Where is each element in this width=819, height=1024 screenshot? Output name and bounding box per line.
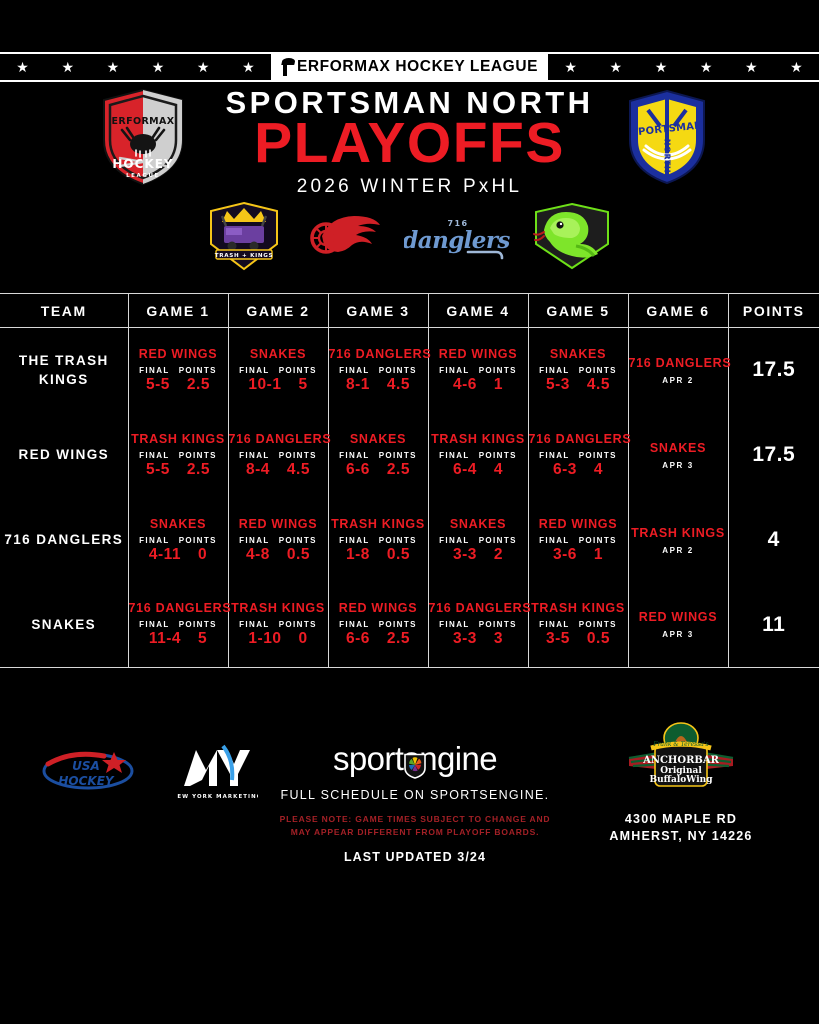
- column-header-game-5: GAME 5: [528, 294, 628, 328]
- performax-p-icon: [281, 59, 296, 76]
- anchor-address-line-2: AMHERST, NY 14226: [586, 828, 776, 845]
- standings-board: TEAM GAME 1 GAME 2 GAME 3 GAME 4 GAME 5 …: [0, 293, 819, 668]
- footer: USA HOCKEY NEW YORK MARKETING sportsngin…: [0, 700, 819, 880]
- cell-team-name: 716 DANGLERS: [0, 498, 128, 583]
- final-label: FINAL: [139, 620, 170, 629]
- opponent-label: 716 DANGLERS: [629, 356, 728, 371]
- column-header-game-4: GAME 4: [428, 294, 528, 328]
- star-icon: ★: [152, 60, 165, 74]
- opponent-label: TRASH KINGS: [129, 432, 228, 447]
- final-score-value: 1-10: [248, 630, 281, 648]
- final-score-value: 4-6: [453, 376, 477, 394]
- points-label: POINTS: [579, 366, 617, 375]
- final-points-values: 4-110: [129, 546, 228, 564]
- cell-team-name: THE TRASH KINGS: [0, 328, 128, 413]
- final-label: FINAL: [539, 366, 570, 375]
- opponent-label: SNAKES: [329, 432, 428, 447]
- opponent-label: RED WINGS: [129, 347, 228, 362]
- final-score-value: 5-5: [146, 461, 170, 479]
- game-date-label: APR 2: [629, 546, 728, 555]
- final-points-values: 6-44: [429, 461, 528, 479]
- points-value: 2.5: [387, 461, 410, 479]
- game-date-label: APR 3: [629, 461, 728, 470]
- cell-game-5: RED WINGSFINALPOINTS3-61: [528, 498, 628, 583]
- points-label: POINTS: [179, 536, 217, 545]
- svg-text:danglers: danglers: [404, 227, 510, 254]
- points-label: POINTS: [479, 366, 517, 375]
- final-points-values: 3-50.5: [529, 630, 628, 648]
- star-icon: ★: [107, 60, 120, 74]
- cell-game-1: RED WINGSFINALPOINTS5-52.5: [128, 328, 228, 413]
- svg-text:NORTH: NORTH: [663, 139, 672, 173]
- league-name-text: ERFORMAX HOCKEY LEAGUE: [297, 58, 538, 76]
- final-points-values: 6-34: [529, 461, 628, 479]
- final-points-values: 10-15: [229, 376, 328, 394]
- nbc-sports-shield-icon: [403, 753, 426, 779]
- opponent-label: SNAKES: [529, 347, 628, 362]
- cell-game-3: 716 DANGLERSFINALPOINTS8-14.5: [328, 328, 428, 413]
- game-date-label: APR 3: [629, 630, 728, 639]
- total-points-value: 11: [729, 613, 819, 637]
- final-points-labels: FINALPOINTS: [329, 366, 428, 375]
- cell-team-name: SNAKES: [0, 583, 128, 668]
- final-label: FINAL: [239, 620, 270, 629]
- final-label: FINAL: [339, 451, 370, 460]
- final-points-labels: FINALPOINTS: [529, 451, 628, 460]
- cell-total-points: 17.5: [728, 328, 819, 413]
- cell-game-5: 716 DANGLERSFINALPOINTS6-34: [528, 413, 628, 498]
- opponent-label: TRASH KINGS: [629, 526, 728, 541]
- schedule-change-note: PLEASE NOTE: GAME TIMES SUBJECT TO CHANG…: [278, 813, 552, 839]
- final-points-values: 4-80.5: [229, 546, 328, 564]
- points-label: POINTS: [179, 451, 217, 460]
- points-label: POINTS: [279, 536, 317, 545]
- final-label: FINAL: [139, 536, 170, 545]
- last-updated-text: LAST UPDATED 3/24: [278, 850, 552, 864]
- final-points-labels: FINALPOINTS: [529, 536, 628, 545]
- final-points-values: 8-14.5: [329, 376, 428, 394]
- cell-game-6: TRASH KINGSAPR 2: [628, 498, 728, 583]
- sportsman-north-shield-icon: SPORTSMAN NORTH: [624, 88, 710, 186]
- final-points-values: 3-33: [429, 630, 528, 648]
- cell-game-2: 716 DANGLERSFINALPOINTS8-44.5: [228, 413, 328, 498]
- final-points-labels: FINALPOINTS: [229, 366, 328, 375]
- cell-game-5: TRASH KINGSFINALPOINTS3-50.5: [528, 583, 628, 668]
- final-points-labels: FINALPOINTS: [229, 451, 328, 460]
- note-line-2: MAY APPEAR DIFFERENT FROM PLAYOFF BOARDS…: [278, 826, 552, 839]
- final-points-labels: FINALPOINTS: [329, 451, 428, 460]
- star-icon: ★: [700, 60, 713, 74]
- sportsengine-wordmark: sportsngine: [333, 742, 497, 775]
- final-score-value: 5-5: [146, 376, 170, 394]
- cell-total-points: 11: [728, 583, 819, 668]
- cell-game-2: RED WINGSFINALPOINTS4-80.5: [228, 498, 328, 583]
- anchor-address-line-1: 4300 MAPLE RD: [586, 811, 776, 828]
- final-score-value: 1-8: [346, 546, 370, 564]
- final-score-value: 3-3: [453, 630, 477, 648]
- final-score-value: 5-3: [546, 376, 570, 394]
- total-points-value: 4: [729, 528, 819, 552]
- opponent-label: SNAKES: [629, 441, 728, 456]
- table-row: THE TRASH KINGSRED WINGSFINALPOINTS5-52.…: [0, 328, 819, 413]
- points-label: POINTS: [379, 536, 417, 545]
- final-points-values: 5-52.5: [129, 376, 228, 394]
- points-value: 4.5: [387, 376, 410, 394]
- cell-game-2: TRASH KINGSFINALPOINTS1-100: [228, 583, 328, 668]
- points-label: POINTS: [579, 620, 617, 629]
- final-points-values: 6-62.5: [329, 461, 428, 479]
- final-score-value: 3-6: [553, 546, 577, 564]
- table-row: 716 DANGLERSSNAKESFINALPOINTS4-110RED WI…: [0, 498, 819, 583]
- final-points-values: 5-52.5: [129, 461, 228, 479]
- final-points-values: 6-62.5: [329, 630, 428, 648]
- points-value: 0: [298, 630, 307, 648]
- final-label: FINAL: [439, 536, 470, 545]
- column-header-game-1: GAME 1: [128, 294, 228, 328]
- final-label: FINAL: [339, 620, 370, 629]
- points-value: 2.5: [187, 376, 210, 394]
- final-points-labels: FINALPOINTS: [429, 620, 528, 629]
- points-value: 4: [494, 461, 503, 479]
- points-value: 1: [594, 546, 603, 564]
- final-score-value: 8-1: [346, 376, 370, 394]
- opponent-label: TRASH KINGS: [429, 432, 528, 447]
- final-label: FINAL: [439, 451, 470, 460]
- opponent-label: RED WINGS: [629, 610, 728, 625]
- cell-game-3: SNAKESFINALPOINTS6-62.5: [328, 413, 428, 498]
- points-label: POINTS: [279, 451, 317, 460]
- cell-total-points: 4: [728, 498, 819, 583]
- league-name-plate: ERFORMAX HOCKEY LEAGUE: [271, 52, 548, 82]
- final-score-value: 6-6: [346, 630, 370, 648]
- final-points-labels: FINALPOINTS: [129, 451, 228, 460]
- table-header-row: TEAM GAME 1 GAME 2 GAME 3 GAME 4 GAME 5 …: [0, 294, 819, 328]
- final-score-value: 3-3: [453, 546, 477, 564]
- points-label: POINTS: [279, 366, 317, 375]
- final-points-labels: FINALPOINTS: [229, 620, 328, 629]
- opponent-label: 716 DANGLERS: [229, 432, 328, 447]
- final-score-value: 6-3: [553, 461, 577, 479]
- points-value: 0: [198, 546, 207, 564]
- opponent-label: TRASH KINGS: [329, 517, 428, 532]
- svg-text:HOCKEY: HOCKEY: [58, 774, 115, 788]
- final-points-values: 4-61: [429, 376, 528, 394]
- opponent-label: SNAKES: [129, 517, 228, 532]
- cell-game-1: TRASH KINGSFINALPOINTS5-52.5: [128, 413, 228, 498]
- table-row: SNAKES716 DANGLERSFINALPOINTS11-45TRASH …: [0, 583, 819, 668]
- star-icon: ★: [242, 60, 255, 74]
- opponent-label: RED WINGS: [329, 601, 428, 616]
- red-wings-logo-icon: [300, 205, 386, 272]
- final-score-value: 4-11: [149, 546, 181, 564]
- final-label: FINAL: [439, 620, 470, 629]
- points-label: POINTS: [379, 451, 417, 460]
- final-points-labels: FINALPOINTS: [529, 620, 628, 629]
- team-logo-strip: TRASH + KINGS 716 danglers: [0, 202, 819, 274]
- points-label: POINTS: [479, 620, 517, 629]
- points-value: 2.5: [387, 630, 410, 648]
- points-label: POINTS: [479, 451, 517, 460]
- points-value: 0.5: [387, 546, 410, 564]
- final-points-labels: FINALPOINTS: [129, 536, 228, 545]
- final-label: FINAL: [539, 620, 570, 629]
- final-points-values: 1-80.5: [329, 546, 428, 564]
- opponent-label: TRASH KINGS: [229, 601, 328, 616]
- column-header-game-6: GAME 6: [628, 294, 728, 328]
- star-icon: ★: [61, 60, 74, 74]
- points-value: 2.5: [187, 461, 210, 479]
- final-label: FINAL: [339, 366, 370, 375]
- final-points-labels: FINALPOINTS: [329, 536, 428, 545]
- final-points-values: 11-45: [129, 630, 228, 648]
- points-label: POINTS: [279, 620, 317, 629]
- opponent-label: 716 DANGLERS: [429, 601, 528, 616]
- note-line-1: PLEASE NOTE: GAME TIMES SUBJECT TO CHANG…: [278, 813, 552, 826]
- svg-text:TRASH + KINGS: TRASH + KINGS: [214, 253, 273, 259]
- cell-game-4: TRASH KINGSFINALPOINTS6-44: [428, 413, 528, 498]
- total-points-value: 17.5: [729, 358, 819, 382]
- column-header-points: POINTS: [728, 294, 819, 328]
- column-header-team: TEAM: [0, 294, 128, 328]
- final-points-values: 3-32: [429, 546, 528, 564]
- cell-game-6: SNAKESAPR 3: [628, 413, 728, 498]
- final-label: FINAL: [139, 366, 170, 375]
- cell-game-5: SNAKESFINALPOINTS5-34.5: [528, 328, 628, 413]
- points-label: POINTS: [379, 620, 417, 629]
- final-points-labels: FINALPOINTS: [529, 366, 628, 375]
- sportsengine-wordmark-part-b: ngine: [419, 740, 497, 777]
- standings-table: TEAM GAME 1 GAME 2 GAME 3 GAME 4 GAME 5 …: [0, 293, 819, 668]
- svg-text:Frank & Teressa's: Frank & Teressa's: [652, 741, 708, 748]
- column-header-game-2: GAME 2: [228, 294, 328, 328]
- final-score-value: 3-5: [546, 630, 570, 648]
- final-points-labels: FINALPOINTS: [429, 366, 528, 375]
- svg-text:BuffaloWing: BuffaloWing: [650, 775, 714, 785]
- points-value: 5: [198, 630, 207, 648]
- points-label: POINTS: [479, 536, 517, 545]
- cell-game-4: SNAKESFINALPOINTS3-32: [428, 498, 528, 583]
- final-points-labels: FINALPOINTS: [129, 620, 228, 629]
- opponent-label: SNAKES: [429, 517, 528, 532]
- cell-game-3: RED WINGSFINALPOINTS6-62.5: [328, 583, 428, 668]
- final-points-values: 3-61: [529, 546, 628, 564]
- star-icon: ★: [564, 60, 577, 74]
- new-york-marketing-logo-icon: NEW YORK MARKETING: [176, 740, 258, 802]
- final-label: FINAL: [439, 366, 470, 375]
- star-icon: ★: [790, 60, 803, 74]
- opponent-label: RED WINGS: [229, 517, 328, 532]
- team-name-label: THE TRASH KINGS: [0, 351, 128, 390]
- cell-game-4: RED WINGSFINALPOINTS4-61: [428, 328, 528, 413]
- final-label: FINAL: [539, 536, 570, 545]
- final-score-value: 4-8: [246, 546, 270, 564]
- points-value: 2: [494, 546, 503, 564]
- star-icon: ★: [197, 60, 210, 74]
- team-name-label: 716 DANGLERS: [0, 530, 128, 550]
- points-value: 1: [494, 376, 503, 394]
- final-score-value: 11-4: [149, 630, 181, 648]
- team-name-label: SNAKES: [0, 615, 128, 635]
- snakes-logo-icon: [530, 200, 614, 277]
- cell-game-3: TRASH KINGSFINALPOINTS1-80.5: [328, 498, 428, 583]
- final-points-labels: FINALPOINTS: [429, 451, 528, 460]
- points-value: 4.5: [287, 461, 310, 479]
- points-label: POINTS: [579, 536, 617, 545]
- final-points-labels: FINALPOINTS: [429, 536, 528, 545]
- points-label: POINTS: [579, 451, 617, 460]
- points-label: POINTS: [179, 620, 217, 629]
- points-label: POINTS: [179, 366, 217, 375]
- cell-game-1: 716 DANGLERSFINALPOINTS11-45: [128, 583, 228, 668]
- points-value: 3: [494, 630, 503, 648]
- star-banner: ★★★★★★ ERFORMAX HOCKEY LEAGUE ★★★★★★: [0, 52, 819, 82]
- playoff-standings-graphic: ★★★★★★ ERFORMAX HOCKEY LEAGUE ★★★★★★ ERF…: [0, 0, 819, 1024]
- points-value: 5: [298, 376, 307, 394]
- cell-game-6: 716 DANGLERSAPR 2: [628, 328, 728, 413]
- sportsengine-schedule-line: FULL SCHEDULE ON SPORTSENGINE.: [278, 788, 552, 802]
- opponent-label: RED WINGS: [529, 517, 628, 532]
- points-label: POINTS: [379, 366, 417, 375]
- final-points-labels: FINALPOINTS: [329, 620, 428, 629]
- cell-team-name: RED WINGS: [0, 413, 128, 498]
- final-label: FINAL: [539, 451, 570, 460]
- points-value: 0.5: [587, 630, 610, 648]
- star-icon: ★: [610, 60, 623, 74]
- opponent-label: RED WINGS: [429, 347, 528, 362]
- final-points-labels: FINALPOINTS: [129, 366, 228, 375]
- column-header-game-3: GAME 3: [328, 294, 428, 328]
- opponent-label: SNAKES: [229, 347, 328, 362]
- cell-game-2: SNAKESFINALPOINTS10-15: [228, 328, 328, 413]
- opponent-label: 716 DANGLERS: [529, 432, 628, 447]
- opponent-label: 716 DANGLERS: [129, 601, 228, 616]
- usa-hockey-logo-icon: USA HOCKEY: [42, 748, 134, 794]
- cell-total-points: 17.5: [728, 413, 819, 498]
- table-row: RED WINGSTRASH KINGSFINALPOINTS5-52.5716…: [0, 413, 819, 498]
- final-score-value: 10-1: [248, 376, 281, 394]
- anchor-bar-logo-icon: Frank & Teressa's ANCHORBAR Original Buf…: [621, 722, 741, 800]
- sportsengine-block: sportsngine FULL SCHEDULE ON SPORTSENGIN…: [278, 742, 552, 864]
- final-label: FINAL: [239, 366, 270, 375]
- final-score-value: 6-6: [346, 461, 370, 479]
- final-label: FINAL: [139, 451, 170, 460]
- anchor-bar-address: 4300 MAPLE RD AMHERST, NY 14226: [586, 811, 776, 845]
- cell-game-6: RED WINGSAPR 3: [628, 583, 728, 668]
- star-icon: ★: [16, 60, 29, 74]
- nym-label: NEW YORK MARKETING: [176, 794, 258, 800]
- points-value: 0.5: [287, 546, 310, 564]
- team-name-label: RED WINGS: [0, 445, 128, 465]
- final-label: FINAL: [339, 536, 370, 545]
- trash-kings-logo-icon: TRASH + KINGS: [206, 200, 282, 277]
- final-label: FINAL: [239, 451, 270, 460]
- points-value: 4.5: [587, 376, 610, 394]
- final-score-value: 8-4: [246, 461, 270, 479]
- points-value: 4: [594, 461, 603, 479]
- final-points-values: 8-44.5: [229, 461, 328, 479]
- cell-game-1: SNAKESFINALPOINTS4-110: [128, 498, 228, 583]
- star-strip-left: ★★★★★★: [0, 52, 271, 82]
- final-score-value: 6-4: [453, 461, 477, 479]
- opponent-label: 716 DANGLERS: [329, 347, 428, 362]
- final-points-values: 5-34.5: [529, 376, 628, 394]
- star-icon: ★: [745, 60, 758, 74]
- final-label: FINAL: [239, 536, 270, 545]
- final-points-labels: FINALPOINTS: [229, 536, 328, 545]
- star-strip-right: ★★★★★★: [548, 52, 819, 82]
- star-icon: ★: [655, 60, 668, 74]
- final-points-values: 1-100: [229, 630, 328, 648]
- cell-game-4: 716 DANGLERSFINALPOINTS3-33: [428, 583, 528, 668]
- 716-danglers-logo-icon: 716 danglers: [404, 208, 512, 269]
- anchor-bar-block: Frank & Teressa's ANCHORBAR Original Buf…: [586, 722, 776, 845]
- svg-text:USA: USA: [72, 759, 100, 773]
- game-date-label: APR 2: [629, 376, 728, 385]
- opponent-label: TRASH KINGS: [529, 601, 628, 616]
- svg-text:ANCHORBAR: ANCHORBAR: [642, 755, 720, 766]
- total-points-value: 17.5: [729, 443, 819, 467]
